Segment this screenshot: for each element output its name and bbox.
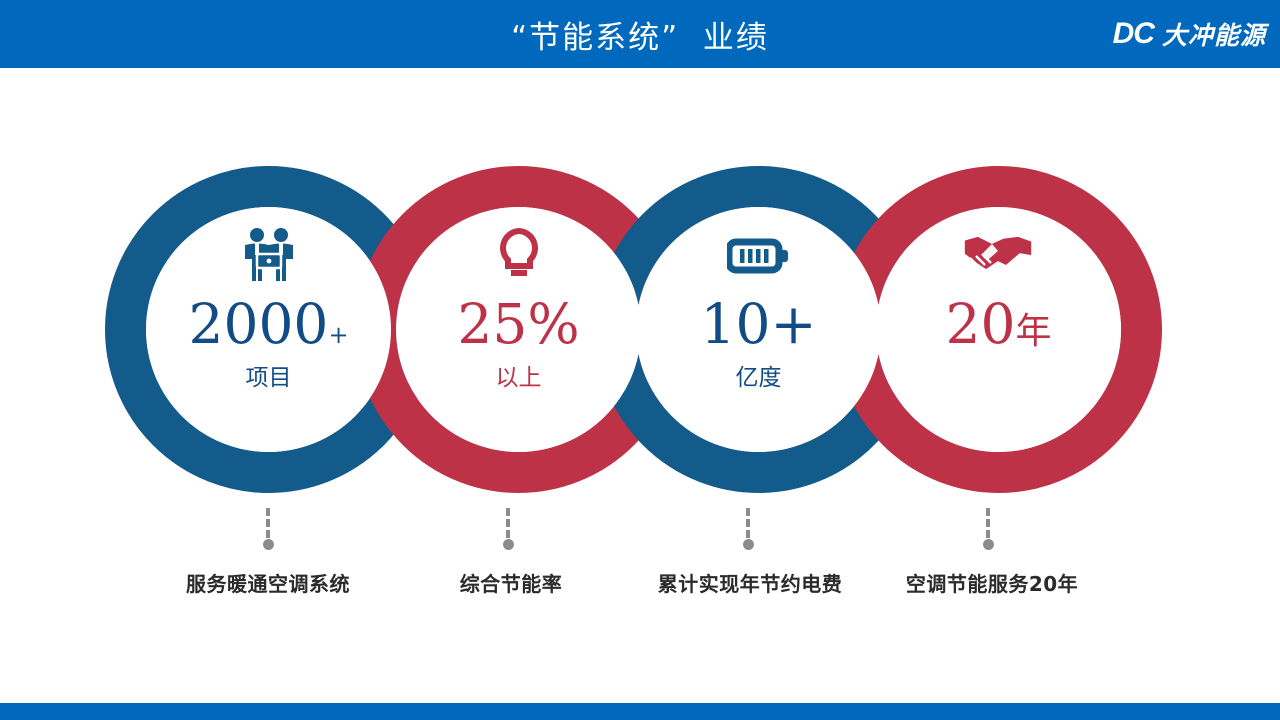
connector-4 [986,508,990,550]
stat-cell-3: 10+ 亿度 [636,207,881,452]
connector-line-2 [506,508,510,538]
stat-value-4: 20年 [945,297,1051,352]
logo-mark-text: DC [1113,17,1154,51]
infographic-stage: 2000+ 项目 25% 以上 [0,68,1280,703]
connector-line-1 [266,508,270,538]
stat-value-1-number: 2000 [188,297,328,352]
stat-cell-2: 25% 以上 [396,207,641,452]
stat-value-3: 10+ [700,297,816,352]
connector-line-4 [986,508,990,538]
header-bar: “节能系统” 业绩 DC 大冲能源 [0,0,1280,68]
connector-3 [746,508,750,550]
stat-value-2-number: 25% [457,297,579,352]
connector-dot-4 [983,539,994,550]
stat-cell-1: 2000+ 项目 [146,207,391,452]
connector-2 [506,508,510,550]
stat-value-2: 25% [457,297,579,352]
stat-value-1-suffix: + [328,323,348,347]
stat-sub-2: 以上 [496,358,542,392]
page-title: “节能系统” 业绩 [0,0,1280,68]
company-logo: DC 大冲能源 [1113,0,1266,68]
battery-icon [727,225,791,287]
connector-dot-2 [503,539,514,550]
handshake-icon [962,225,1036,287]
two-people-icon [241,225,297,287]
stat-cell-4: 20年 [876,207,1121,452]
stat-caption-1: 服务暖通空调系统 [186,568,350,597]
connector-line-3 [746,508,750,538]
stat-caption-2: 综合节能率 [460,568,563,597]
lightbulb-icon [494,225,544,287]
stat-sub-1: 项目 [246,358,292,392]
connector-1 [266,508,270,550]
stat-sub-3: 亿度 [736,358,782,392]
stat-value-1: 2000+ [188,297,348,352]
connector-dot-3 [743,539,754,550]
stat-value-4-number: 20 [945,297,1015,352]
stat-caption-4: 空调节能服务20年 [906,568,1078,597]
logo-company-name: 大冲能源 [1162,16,1266,52]
stat-value-4-suffix: 年 [1015,314,1051,350]
footer-bar [0,703,1280,720]
connector-dot-1 [263,539,274,550]
stat-value-3-number: 10+ [700,297,816,352]
stat-caption-3: 累计实现年节约电费 [658,568,843,597]
